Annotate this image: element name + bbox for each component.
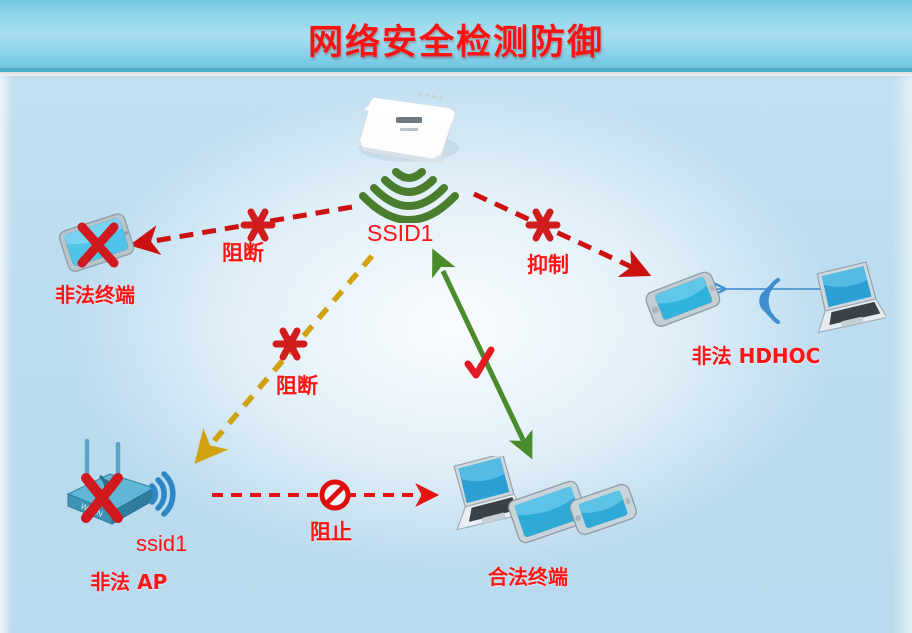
edge-label-block-ap: 阻断: [276, 370, 318, 400]
edge-label-block-terminal: 阻断: [222, 237, 264, 267]
laptop-icon: [809, 260, 886, 332]
laptop-tablet-phone-icon: [440, 456, 640, 566]
edge-allow-legal: [443, 271, 525, 444]
edge-label-suppress-adhoc: 抑制: [527, 249, 569, 279]
page-title: 网络安全检测防御: [0, 14, 912, 65]
wifi-signal-icon: [363, 172, 455, 220]
diagram-canvas: 网络安全检测防御: [0, 0, 912, 633]
title-banner: 网络安全检测防御: [0, 0, 912, 72]
rogue-ap-caption: 非法 AP: [0, 566, 259, 595]
rogue-terminal-node[interactable]: 非法终端: [40, 201, 150, 301]
access-point-icon: [352, 88, 472, 223]
rogue-adhoc-node[interactable]: 非法 HDHOC: [636, 258, 886, 368]
asterisk-marker: [529, 212, 557, 238]
phone-icon: [644, 270, 722, 329]
edge-block-ap: [208, 256, 372, 448]
wifi-signal-icon: [152, 474, 173, 514]
edge-label-deny-ap-legal: 阻止: [310, 516, 352, 546]
legal-terminal-caption: 合法终端: [398, 561, 658, 590]
legal-terminal-node[interactable]: 合法终端: [440, 456, 640, 581]
no-entry-icon: [322, 482, 348, 508]
rogue-terminal-caption: 非法终端: [0, 279, 225, 308]
phone-laptop-pair-icon: [636, 258, 886, 344]
wifi-signal-icon: [761, 280, 778, 322]
access-point-node[interactable]: SSID1: [352, 88, 472, 223]
rogue-ap-node[interactable]: WLAN ssid1 非法 AP: [50, 436, 225, 566]
rogue-ap-ssid-label: ssid1: [136, 531, 187, 557]
rogue-adhoc-caption: 非法 HDHOC: [626, 340, 886, 369]
wlan-router-icon: WLAN: [50, 436, 225, 541]
asterisk-marker: [244, 212, 272, 238]
edge-deny-ap-legal: [212, 482, 424, 508]
tablet-icon: [40, 201, 150, 281]
network-topology: SSID1 非法终端: [0, 76, 912, 633]
ssid-label: SSID1: [367, 220, 433, 247]
